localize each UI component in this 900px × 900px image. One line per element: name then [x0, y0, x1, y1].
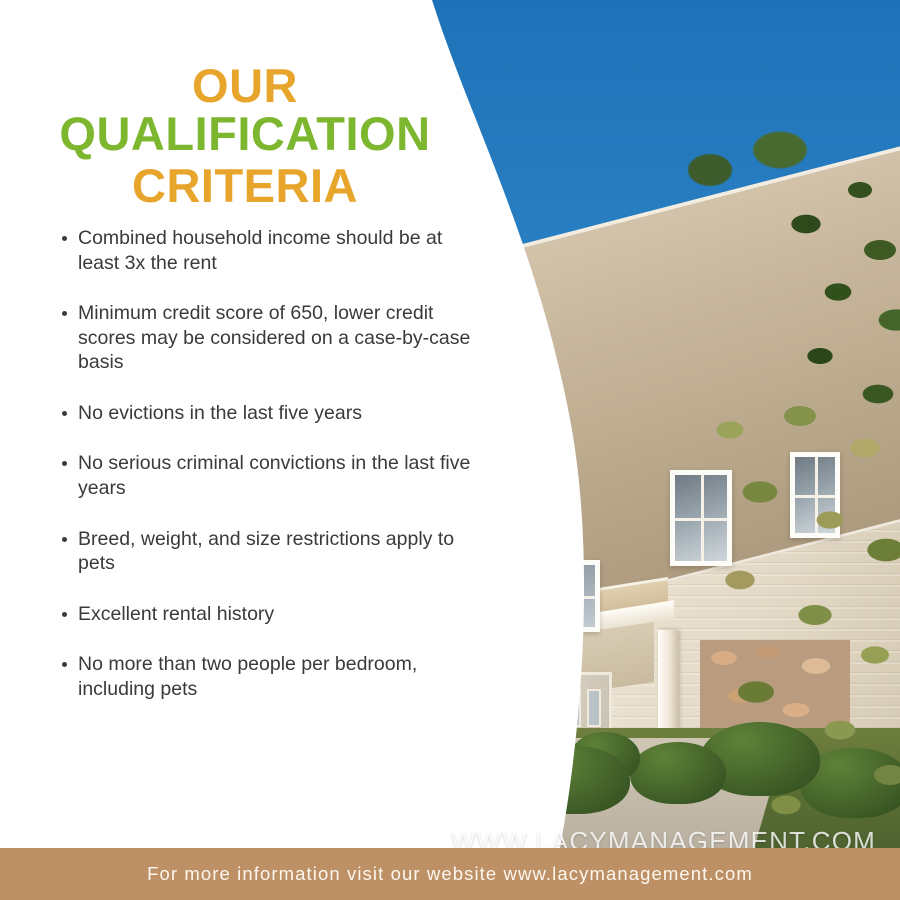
list-item: No more than two people per bedroom, inc…: [62, 652, 482, 701]
footer-text: For more information visit our website w…: [0, 848, 900, 900]
qualification-criteria-poster: OUR QUALIFICATION CRITERIA Combined hous…: [0, 0, 900, 900]
list-item: Minimum credit score of 650, lower credi…: [62, 301, 482, 375]
page-title: OUR QUALIFICATION CRITERIA: [0, 62, 490, 210]
bullet-dot-icon: [62, 537, 67, 542]
footer-bar: For more information visit our website w…: [0, 848, 900, 900]
criteria-text: Combined household income should be at l…: [78, 226, 482, 275]
list-item: Combined household income should be at l…: [62, 226, 482, 275]
bullet-dot-icon: [62, 612, 67, 617]
lower-window-left: [560, 560, 600, 632]
criteria-text: No serious criminal convictions in the l…: [78, 451, 482, 500]
bullet-dot-icon: [62, 461, 67, 466]
list-item: Excellent rental history: [62, 602, 482, 627]
foreground-tree: [690, 400, 900, 848]
list-item: Breed, weight, and size restrictions app…: [62, 527, 482, 576]
bullet-dot-icon: [62, 236, 67, 241]
criteria-text: Excellent rental history: [78, 602, 482, 627]
bullet-dot-icon: [62, 311, 67, 316]
title-word-our: OUR: [192, 59, 298, 112]
criteria-text: Breed, weight, and size restrictions app…: [78, 527, 482, 576]
criteria-text: Minimum credit score of 650, lower credi…: [78, 301, 482, 375]
criteria-list: Combined household income should be at l…: [62, 226, 482, 727]
bullet-dot-icon: [62, 662, 67, 667]
title-word-qualification: QUALIFICATION: [59, 107, 430, 160]
bullet-dot-icon: [62, 411, 67, 416]
list-item: No evictions in the last five years: [62, 401, 482, 426]
criteria-text: No evictions in the last five years: [78, 401, 482, 426]
criteria-text: No more than two people per bedroom, inc…: [78, 652, 482, 701]
text-panel: OUR QUALIFICATION CRITERIA Combined hous…: [0, 0, 520, 848]
title-word-criteria: CRITERIA: [0, 162, 490, 210]
list-item: No serious criminal convictions in the l…: [62, 451, 482, 500]
